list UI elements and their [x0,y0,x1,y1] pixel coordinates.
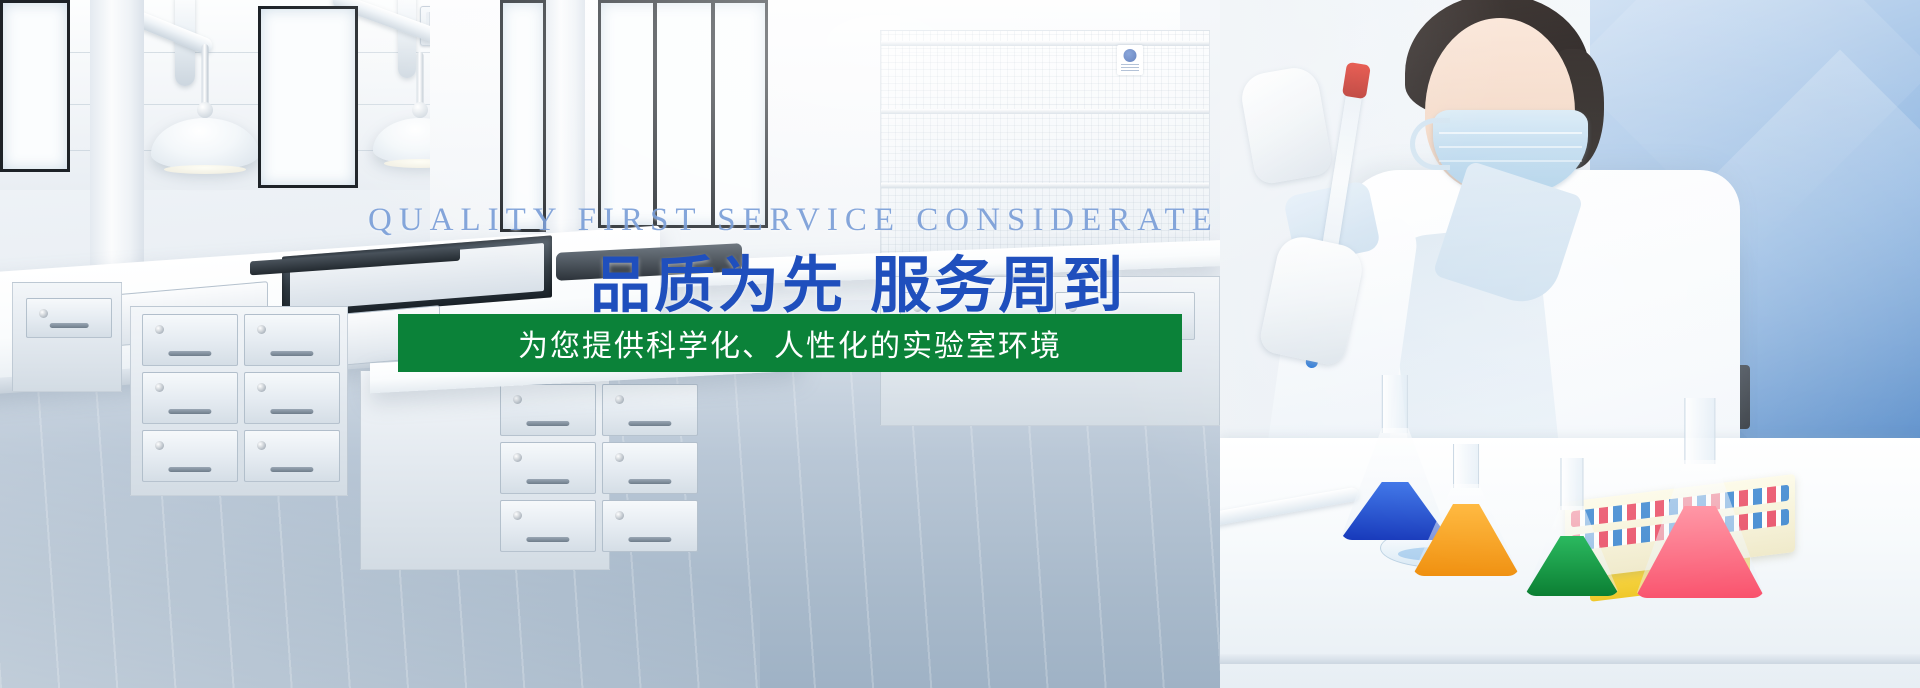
subtitle-text: 为您提供科学化、人性化的实验室环境 [518,321,1062,365]
hero-banner: QUALITY FIRST SERVICE CONSIDERATE 品质为先 服… [0,0,1920,688]
headline-chinese: 品质为先 服务周到 [590,251,1126,321]
subtitle-green-bar: 为您提供科学化、人性化的实验室环境 [398,314,1182,372]
text-overlay: QUALITY FIRST SERVICE CONSIDERATE 品质为先 服… [0,0,1920,688]
english-tagline: QUALITY FIRST SERVICE CONSIDERATE [368,204,1219,237]
